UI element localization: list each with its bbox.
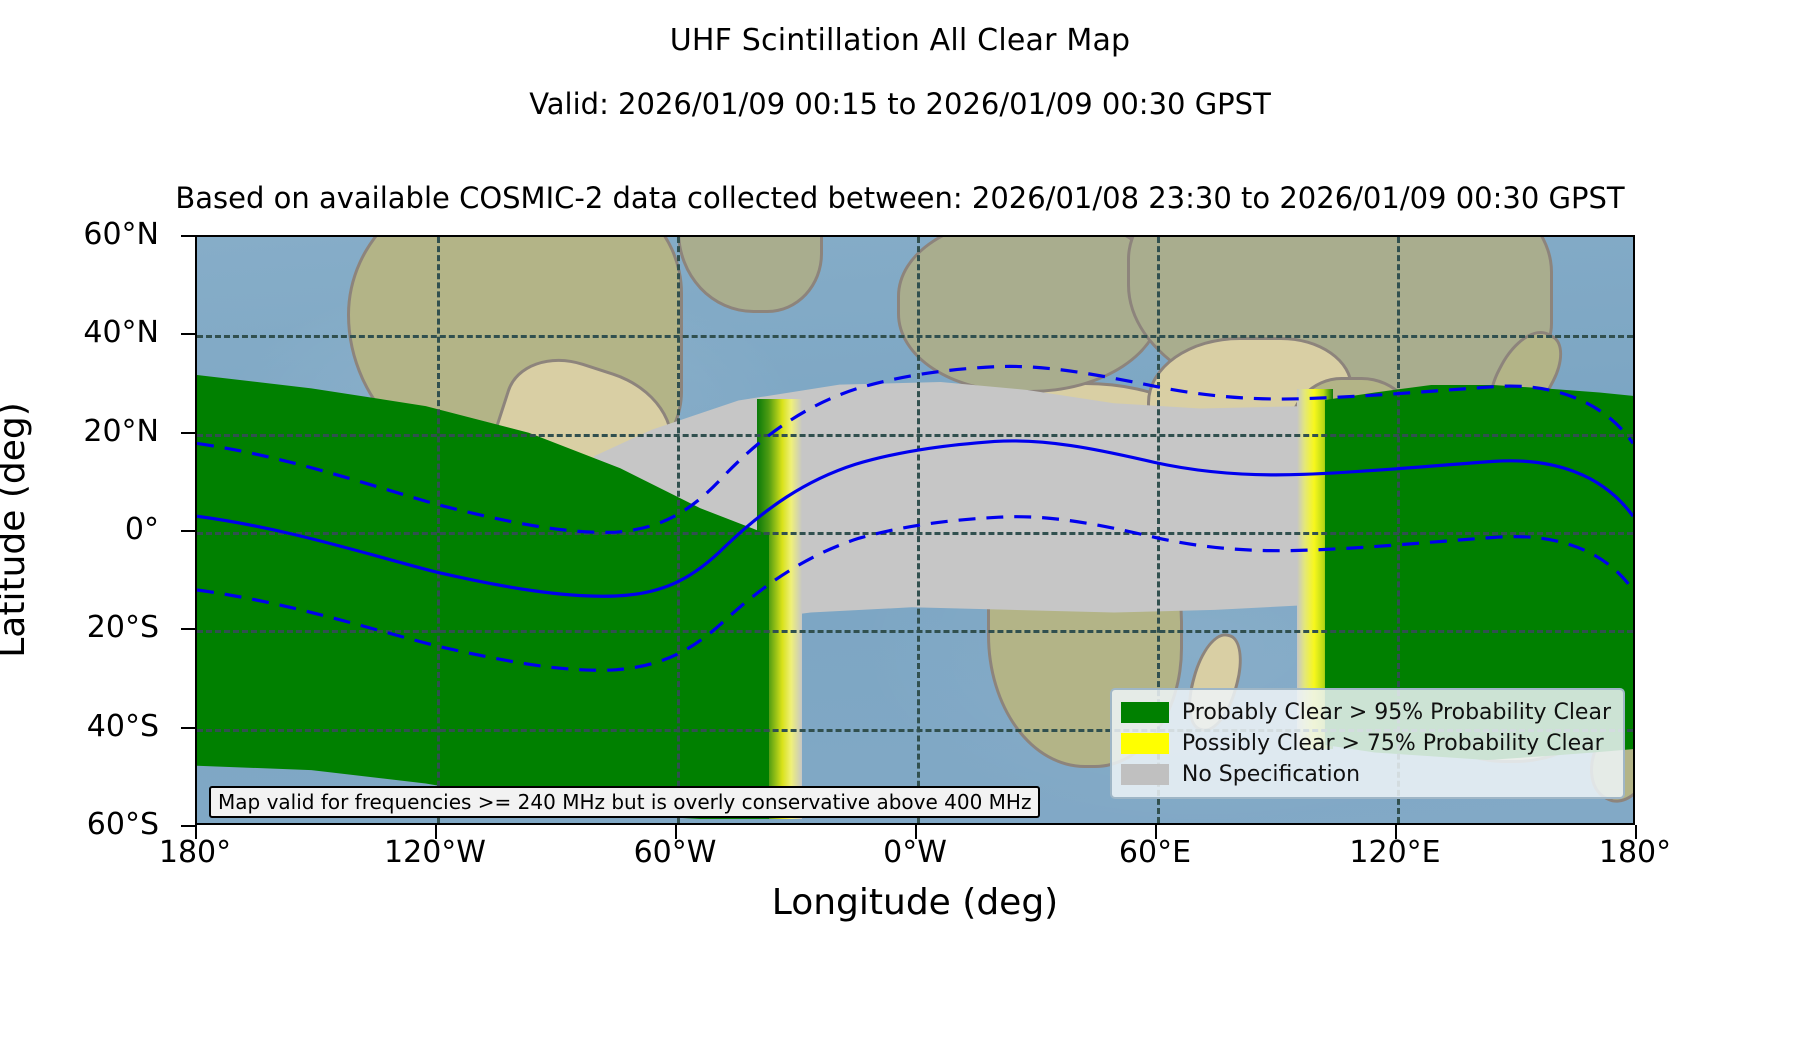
page-title: UHF Scintillation All Clear Map: [0, 26, 1800, 56]
legend-swatch-no-specification: [1121, 764, 1169, 785]
y-tick-label: 60°N: [19, 220, 159, 250]
x-tick-mark: [1635, 825, 1637, 839]
legend-label-no-specification: No Specification: [1182, 764, 1360, 786]
y-tick-mark: [181, 235, 195, 237]
y-tick-label: 40°N: [19, 318, 159, 348]
magnetic-equator-line: [197, 441, 1633, 596]
x-tick-mark: [1395, 825, 1397, 839]
x-tick-label: 60°E: [1055, 838, 1255, 868]
y-tick-label: 20°S: [19, 613, 159, 643]
x-tick-label: 60°W: [575, 838, 775, 868]
map-plot-area[interactable]: Probably Clear > 95% Probability Clear P…: [195, 235, 1635, 825]
x-tick-label: 180°: [1535, 838, 1735, 868]
legend-item: No Specification: [1121, 759, 1611, 790]
x-tick-mark: [1155, 825, 1157, 839]
x-tick-mark: [675, 825, 677, 839]
x-tick-label: 120°W: [335, 838, 535, 868]
y-tick-mark: [181, 432, 195, 434]
x-tick-mark: [435, 825, 437, 839]
y-tick-label: 40°S: [19, 712, 159, 742]
validity-subtitle: Valid: 2026/01/09 00:15 to 2026/01/09 00…: [0, 90, 1800, 119]
x-tick-label: 0°W: [815, 838, 1015, 868]
y-tick-label: 20°N: [19, 417, 159, 447]
legend-label-possibly-clear: Possibly Clear > 75% Probability Clear: [1182, 733, 1604, 755]
y-tick-mark: [181, 530, 195, 532]
legend: Probably Clear > 95% Probability Clear P…: [1110, 688, 1625, 799]
y-tick-mark: [181, 333, 195, 335]
y-tick-label: 0°: [19, 515, 159, 545]
legend-swatch-possibly-clear: [1121, 733, 1169, 754]
x-tick-mark: [195, 825, 197, 839]
x-tick-mark: [915, 825, 917, 839]
data-source-caption: Based on available COSMIC-2 data collect…: [0, 184, 1800, 213]
y-tick-label: 60°S: [19, 810, 159, 840]
x-axis-label: Longitude (deg): [195, 885, 1635, 921]
frequency-validity-note: Map valid for frequencies >= 240 MHz but…: [209, 786, 1040, 818]
x-tick-label: 120°E: [1295, 838, 1495, 868]
legend-item: Probably Clear > 95% Probability Clear: [1121, 697, 1611, 728]
y-tick-mark: [181, 825, 195, 827]
legend-swatch-probably-clear: [1121, 702, 1169, 723]
y-tick-mark: [181, 628, 195, 630]
x-tick-label: 180°: [95, 838, 295, 868]
legend-item: Possibly Clear > 75% Probability Clear: [1121, 728, 1611, 759]
legend-label-probably-clear: Probably Clear > 95% Probability Clear: [1182, 702, 1611, 724]
header-block: UHF Scintillation All Clear Map Valid: 2…: [0, 0, 1800, 119]
magnetic-equator-south-bound: [197, 517, 1633, 671]
y-tick-mark: [181, 727, 195, 729]
